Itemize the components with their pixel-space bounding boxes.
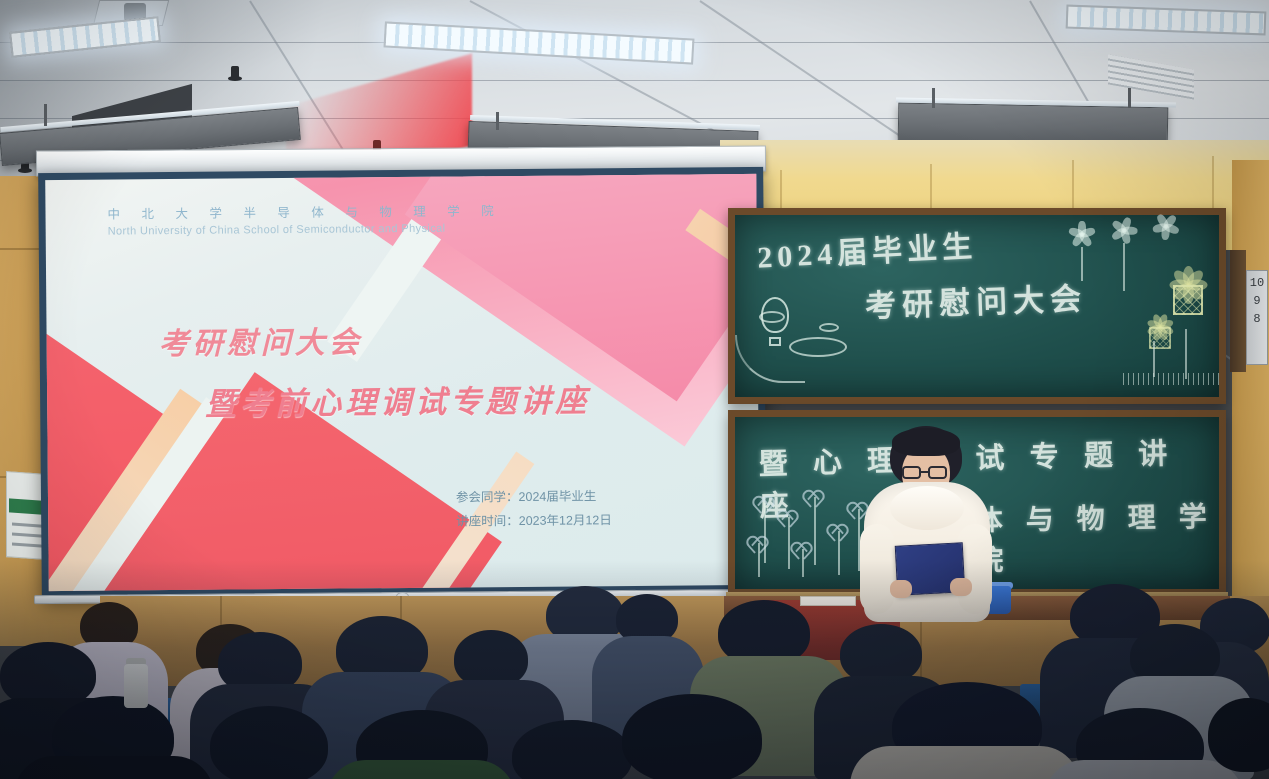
projection-screen: 中 北 大 学 半 导 体 与 物 理 学 院 North University… [38, 167, 767, 598]
ruler-mark: 10 [1247, 277, 1267, 289]
slide-meta-datetime: 讲座时间：2023年12月12日 [456, 509, 612, 534]
lecture-hall-photo: 中 北 大 学 半 导 体 与 物 理 学 院 North University… [0, 0, 1269, 779]
glasses-icon [902, 466, 921, 479]
flower-icon [1149, 211, 1183, 245]
grass-icon [1123, 373, 1219, 385]
speaker-collar [890, 486, 964, 530]
blackboard-upper: 2024届毕业生 考研慰问大会 [728, 208, 1226, 404]
speaker-fringe [892, 428, 960, 456]
slide-header-chinese: 中 北 大 学 半 导 体 与 物 理 学 院 [107, 200, 502, 222]
slide-title-line1: 考研慰问大会 [158, 314, 718, 363]
slide-meta: 参会同学：2024届毕业生 讲座时间：2023年12月12日 [456, 485, 612, 534]
sprinkler-icon [228, 66, 242, 86]
glasses-icon [928, 466, 947, 479]
ruler-mark: 9 [1247, 295, 1267, 307]
ruler-mark: 8 [1247, 313, 1267, 325]
wall-ruler: 10 9 8 [1246, 270, 1268, 365]
slide-header: 中 北 大 学 半 导 体 与 物 理 学 院 North University… [107, 200, 502, 237]
wall-post [1230, 250, 1246, 372]
wall-right-edge [1232, 160, 1269, 630]
thermos-bottle [124, 664, 148, 708]
blackboard-upper-line2: 考研慰问大会 [864, 273, 1087, 326]
blackboard-lower-line2: 体 与 物 理 学 院 [974, 495, 1219, 579]
slide-title: 考研慰问大会 暨考前心理调试专题讲座 [158, 314, 719, 424]
presentation-slide: 中 北 大 学 半 导 体 与 物 理 学 院 North University… [45, 174, 760, 591]
blackboard-upper-line1: 2024届毕业生 [756, 221, 978, 276]
slide-title-line2: 暨考前心理调试专题讲座 [205, 374, 719, 423]
glasses-bridge [921, 471, 928, 473]
slide-meta-attendees: 参会同学：2024届毕业生 [456, 485, 612, 510]
audience [0, 580, 1269, 779]
sunflower-icon [1136, 314, 1184, 362]
